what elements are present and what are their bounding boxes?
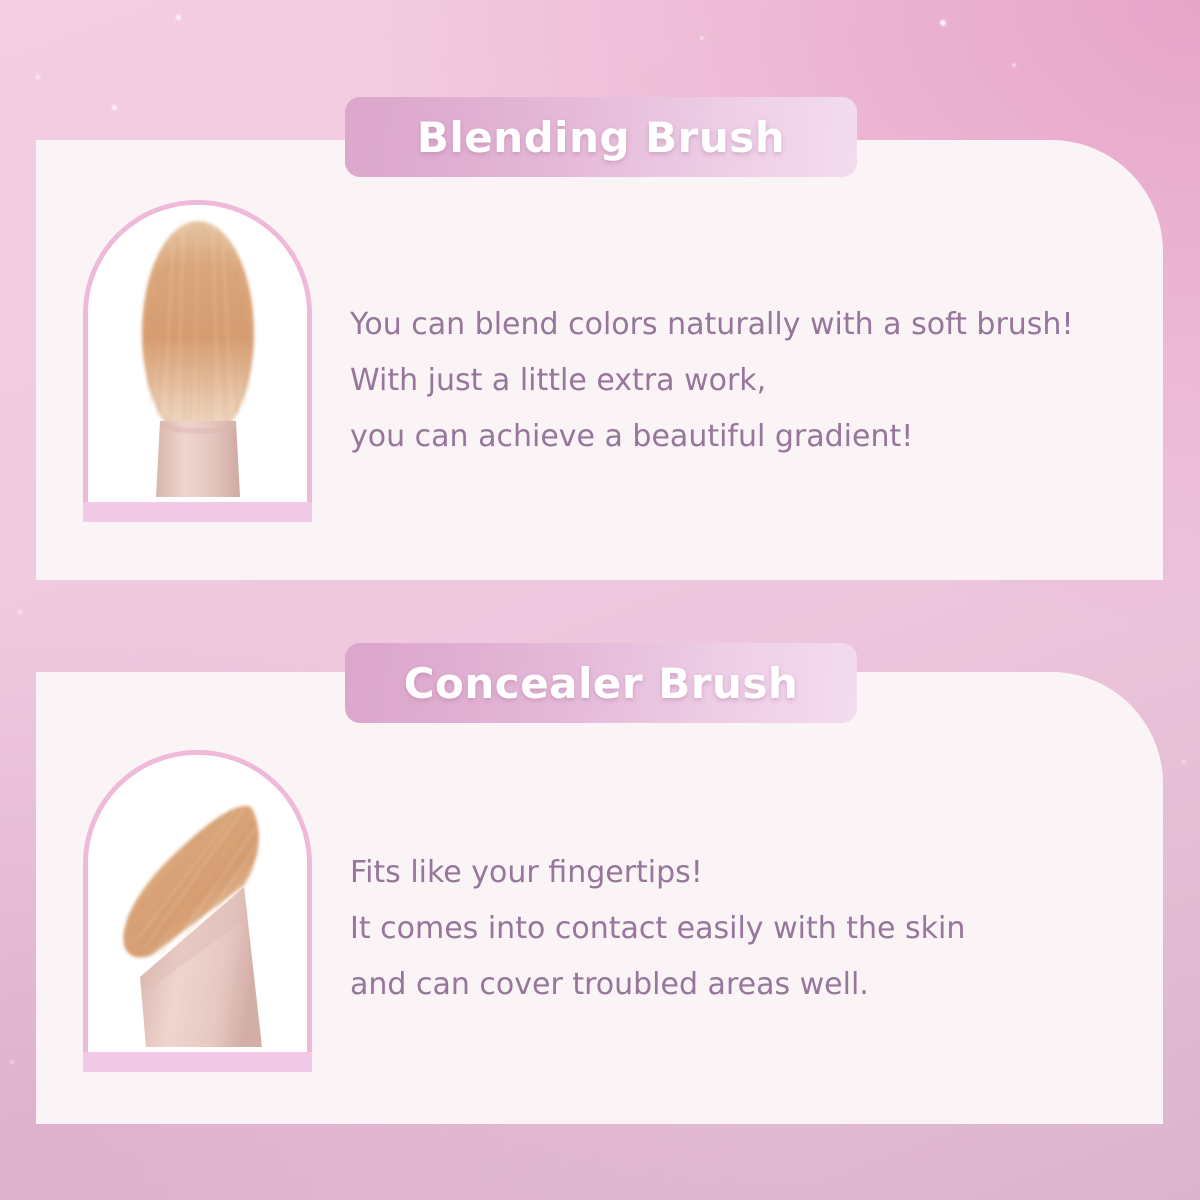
blending-brush-image-frame (83, 200, 312, 522)
description-line: and can cover troubled areas well. (350, 957, 965, 1013)
arch-base-bar (83, 1050, 312, 1072)
sparkle-icon (940, 20, 946, 26)
blending-brush-photo (88, 205, 307, 497)
arch-photo-window (83, 200, 312, 502)
sparkle-icon (1182, 760, 1186, 764)
card-title-tab-concealer-brush: Concealer Brush (345, 643, 857, 723)
description-line: You can blend colors naturally with a so… (350, 297, 1073, 353)
sparkle-icon (112, 105, 117, 110)
sparkle-icon (36, 75, 40, 79)
sparkle-icon (10, 1060, 14, 1064)
card-title-tab-blending-brush: Blending Brush (345, 97, 857, 177)
sparkle-icon (1012, 63, 1016, 67)
concealer-brush-description: Fits like your fingertips! It comes into… (350, 845, 965, 1013)
concealer-brush-photo (88, 755, 307, 1047)
concealer-brush-image-frame (83, 750, 312, 1072)
description-line: With just a little extra work, (350, 353, 1073, 409)
sparkle-icon (700, 36, 704, 40)
blending-brush-description: You can blend colors naturally with a so… (350, 297, 1073, 465)
sparkle-icon (18, 610, 22, 614)
product-feature-page: Blending Brush You can blend colors natu… (0, 0, 1200, 1200)
card-title: Blending Brush (417, 113, 785, 162)
card-title: Concealer Brush (404, 659, 799, 708)
arch-photo-window (83, 750, 312, 1052)
sparkle-icon (176, 15, 181, 20)
arch-base-bar (83, 500, 312, 522)
description-line: It comes into contact easily with the sk… (350, 901, 965, 957)
description-line: you can achieve a beautiful gradient! (350, 409, 1073, 465)
description-line: Fits like your fingertips! (350, 845, 965, 901)
